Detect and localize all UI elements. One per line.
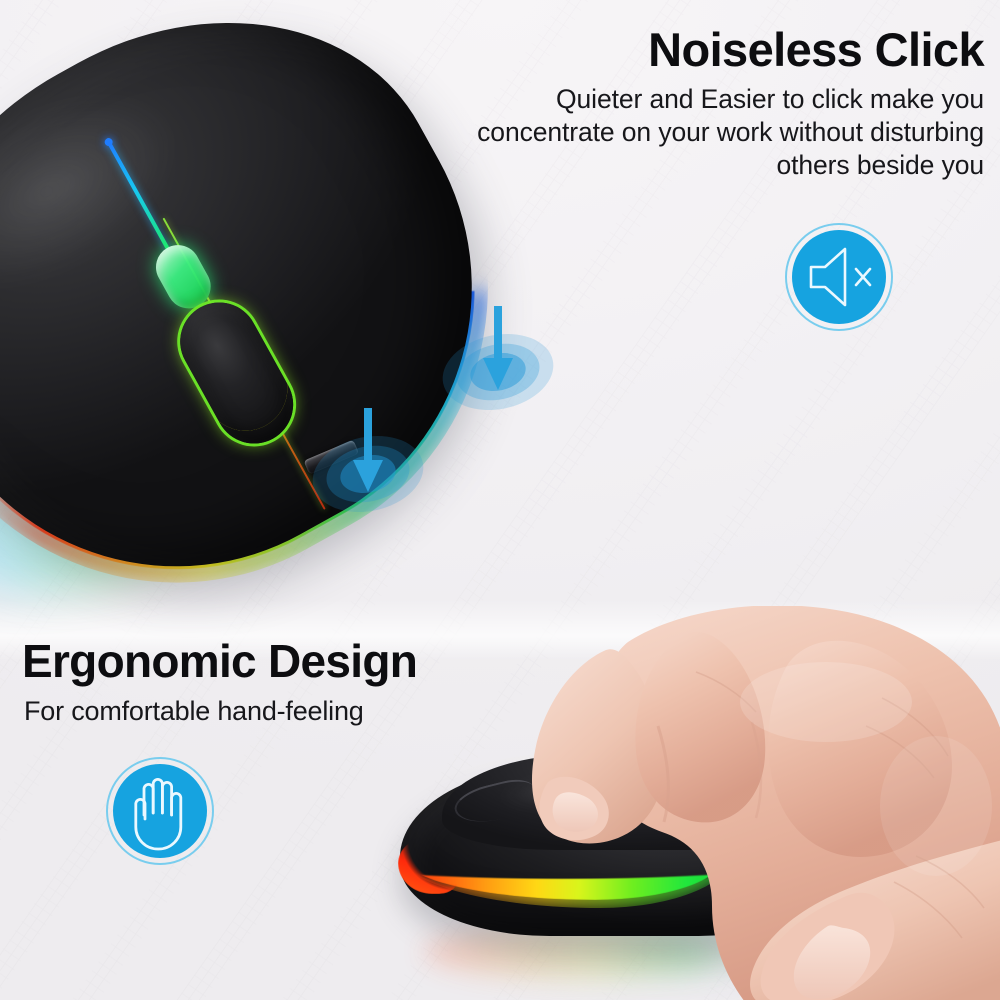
mute-speaker-icon [785, 223, 893, 331]
down-arrow-icon [351, 408, 385, 500]
feature-body: For comfortable hand-feeling [24, 695, 542, 727]
hand-badge [106, 757, 214, 865]
feature-heading: Ergonomic Design [22, 638, 542, 686]
feature-heading: Noiseless Click [424, 26, 984, 75]
feature-ergonomic-design: Ergonomic Design For comfortable hand-fe… [22, 638, 542, 727]
product-feature-image: Noiseless Click Quieter and Easier to cl… [0, 0, 1000, 1000]
right-click-indicator [438, 302, 558, 422]
down-arrow-icon [481, 306, 515, 398]
feature-noiseless-click: Noiseless Click Quieter and Easier to cl… [424, 26, 984, 182]
feature-body: Quieter and Easier to click make you con… [424, 83, 984, 182]
left-click-indicator [308, 404, 428, 524]
mute-badge [785, 223, 893, 331]
open-hand-icon [106, 757, 214, 865]
